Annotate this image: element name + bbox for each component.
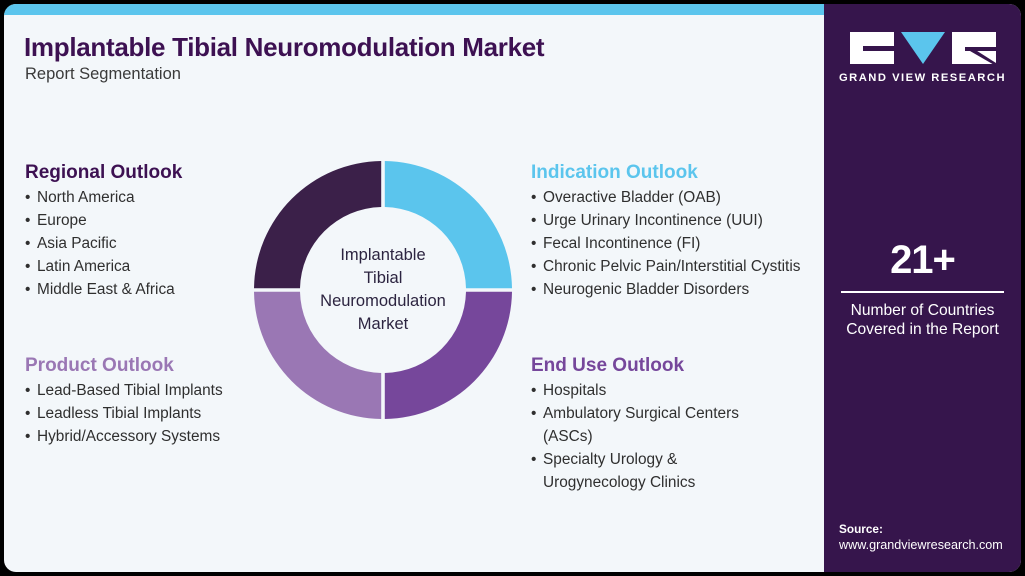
stat-value: 21+ (824, 240, 1021, 280)
list-item: Europe (25, 210, 275, 233)
donut-center-line: Implantable (340, 244, 425, 267)
list-item: Urge Urinary Incontinence (UUI) (531, 210, 821, 233)
regional-outlook-heading: Regional Outlook (25, 162, 275, 184)
infographic-root: Implantable Tibial Neuromodulation Marke… (0, 0, 1025, 576)
regional-outlook-list: North America Europe Asia Pacific Latin … (25, 187, 275, 302)
end-use-outlook-heading: End Use Outlook (531, 355, 761, 377)
country-count-stat: 21+ Number of Countries Covered in the R… (824, 240, 1021, 340)
product-outlook-heading: Product Outlook (25, 355, 285, 377)
indication-outlook-list: Overactive Bladder (OAB) Urge Urinary In… (531, 187, 821, 302)
block-indication-outlook: Indication Outlook Overactive Bladder (O… (531, 162, 821, 302)
list-item: Hybrid/Accessory Systems (25, 426, 285, 449)
source-block: Source: www.grandviewresearch.com (839, 522, 1021, 552)
list-item: Chronic Pelvic Pain/Interstitial Cystiti… (531, 256, 821, 279)
list-item: Fecal Incontinence (FI) (531, 233, 821, 256)
list-item: North America (25, 187, 275, 210)
end-use-outlook-list: Hospitals Ambulatory Surgical Centers (A… (531, 380, 761, 495)
list-item: Specialty Urology & Urogynecology Clinic… (531, 449, 761, 495)
list-item: Lead-Based Tibial Implants (25, 380, 285, 403)
list-item: Middle East & Africa (25, 279, 275, 302)
segmentation-donut-chart: Implantable Tibial Neuromodulation Marke… (252, 159, 514, 421)
page-title: Implantable Tibial Neuromodulation Marke… (24, 32, 544, 63)
logo-wordmark: GRAND VIEW RESEARCH (824, 72, 1021, 84)
indication-outlook-heading: Indication Outlook (531, 162, 821, 184)
list-item: Asia Pacific (25, 233, 275, 256)
list-item: Leadless Tibial Implants (25, 403, 285, 426)
list-item: Hospitals (531, 380, 761, 403)
main-panel: Implantable Tibial Neuromodulation Marke… (4, 4, 1021, 572)
source-title: Source: (839, 522, 1021, 536)
list-item: Overactive Bladder (OAB) (531, 187, 821, 210)
donut-center-line: Tibial (364, 267, 403, 290)
stat-label: Number of Countries Covered in the Repor… (824, 301, 1021, 341)
list-item: Neurogenic Bladder Disorders (531, 279, 821, 302)
donut-center-line: Market (358, 313, 408, 336)
block-product-outlook: Product Outlook Lead-Based Tibial Implan… (25, 355, 285, 449)
right-sidebar: GRAND VIEW RESEARCH 21+ Number of Countr… (824, 4, 1021, 572)
gvr-logo-icon (850, 30, 996, 66)
list-item: Latin America (25, 256, 275, 279)
block-regional-outlook: Regional Outlook North America Europe As… (25, 162, 275, 302)
top-accent-bar (4, 4, 824, 15)
source-url: www.grandviewresearch.com (839, 538, 1021, 552)
donut-center-line: Neuromodulation (320, 290, 446, 313)
stat-divider (841, 291, 1004, 293)
product-outlook-list: Lead-Based Tibial Implants Leadless Tibi… (25, 380, 285, 449)
content-area: Implantable Tibial Neuromodulation Marke… (4, 15, 824, 572)
page-subtitle: Report Segmentation (25, 65, 181, 84)
donut-center-label: Implantable Tibial Neuromodulation Marke… (252, 159, 514, 421)
grand-view-research-logo: GRAND VIEW RESEARCH (824, 30, 1021, 84)
block-end-use-outlook: End Use Outlook Hospitals Ambulatory Sur… (531, 355, 761, 495)
list-item: Ambulatory Surgical Centers (ASCs) (531, 403, 761, 449)
